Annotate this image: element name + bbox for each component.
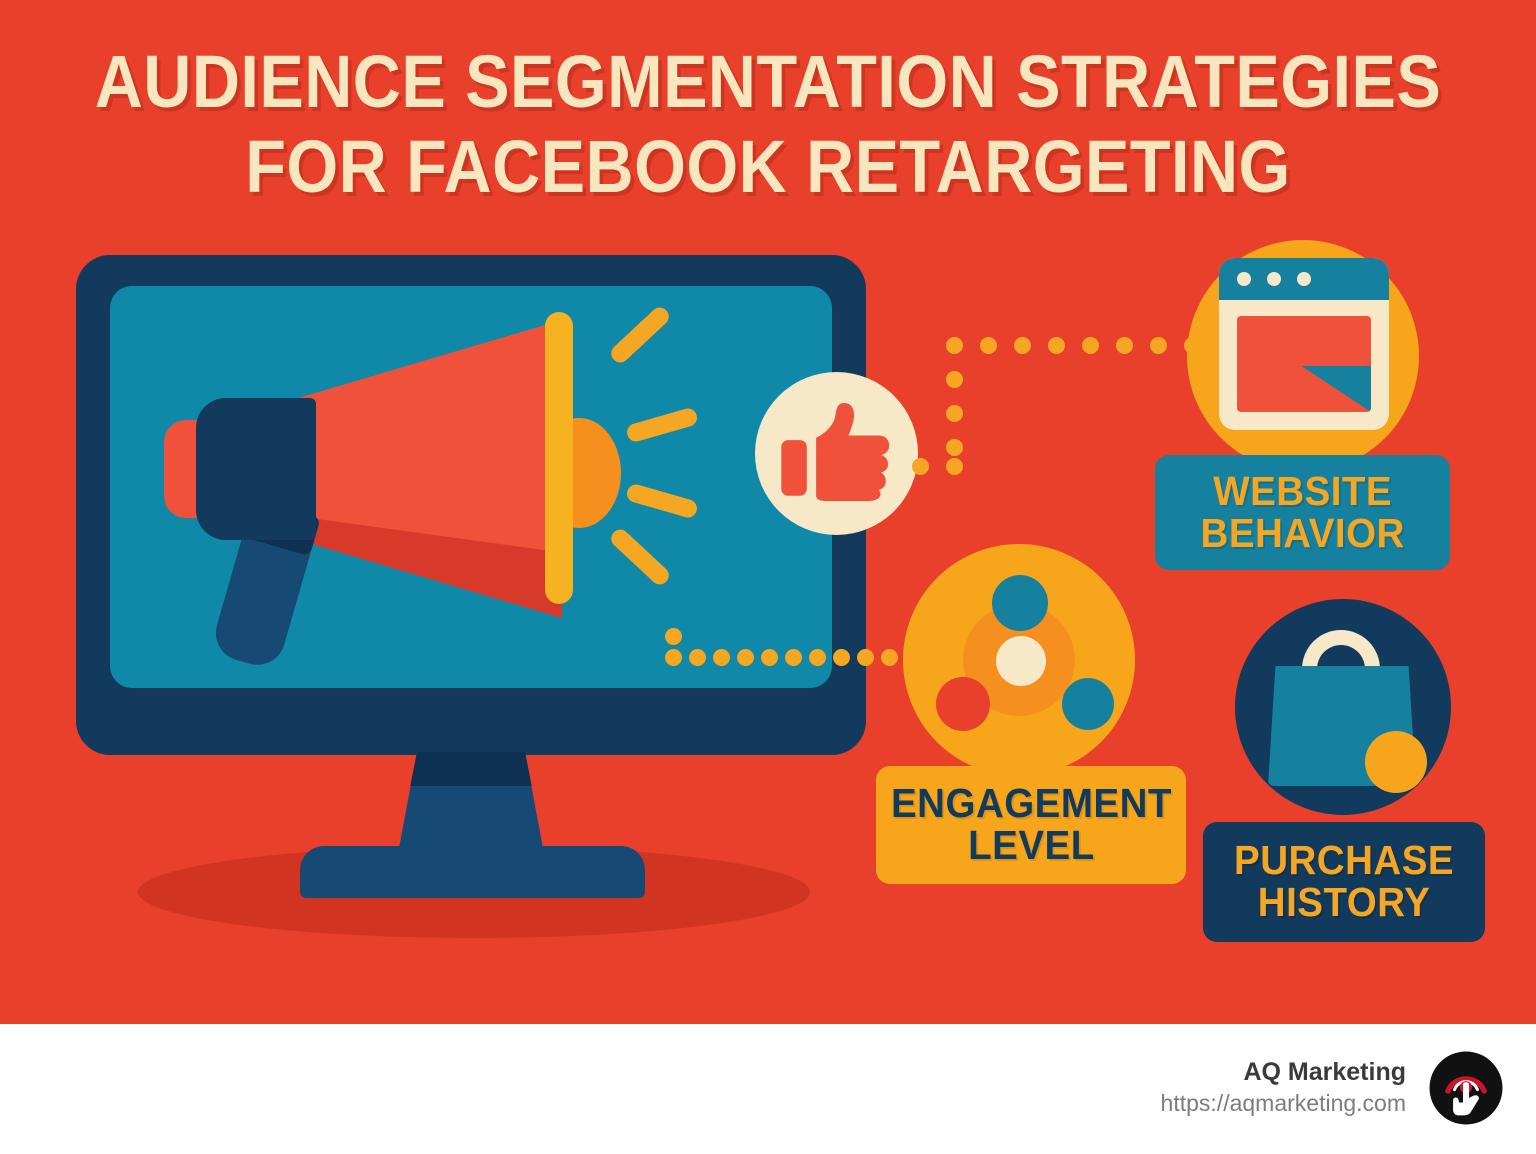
connector-dot [1116, 337, 1133, 354]
connector-dot [1014, 337, 1031, 354]
infographic-page: AUDIENCE SEGMENTATION STRATEGIES FOR FAC… [0, 0, 1536, 1154]
connector-dot [946, 405, 963, 422]
card-label-website-behavior[interactable]: WEBSITE BEHAVIOR [1155, 455, 1450, 570]
connector-dot [713, 649, 730, 666]
website-behavior-line-2: BEHAVIOR [1200, 513, 1404, 555]
infographic-canvas: AUDIENCE SEGMENTATION STRATEGIES FOR FAC… [0, 0, 1536, 1024]
connector-dot [857, 649, 874, 666]
purchase-history-line-2: HISTORY [1234, 882, 1454, 924]
thumbs-up-icon [779, 396, 895, 512]
card-label-purchase-history[interactable]: PURCHASE HISTORY [1203, 822, 1485, 942]
connector-dot [946, 337, 963, 354]
purchase-history-line-1: PURCHASE [1234, 840, 1454, 882]
connector-dot [785, 649, 802, 666]
connector-dot [809, 649, 826, 666]
network-node-center [996, 636, 1046, 686]
connector-dot [881, 649, 898, 666]
browser-content-shape [1237, 316, 1371, 412]
footer-bar: AQ Marketing https://aqmarketing.com [0, 1024, 1536, 1154]
page-title: AUDIENCE SEGMENTATION STRATEGIES FOR FAC… [0, 46, 1536, 202]
browser-dot [1297, 272, 1311, 286]
card-label-engagement-level[interactable]: ENGAGEMENT LEVEL [876, 766, 1186, 884]
connector-dot [665, 649, 682, 666]
megaphone-mouth-bar [545, 312, 573, 604]
footer-text-block: AQ Marketing https://aqmarketing.com [1161, 1057, 1406, 1118]
monitor-neck-highlight [396, 752, 546, 786]
connector-dot [761, 649, 778, 666]
connector-dot [689, 649, 706, 666]
shopping-bag-badge [1365, 731, 1427, 793]
network-node-right [1062, 678, 1114, 730]
browser-dot [1267, 272, 1281, 286]
network-node-left [936, 677, 990, 731]
engagement-level-line-2: LEVEL [891, 825, 1172, 867]
connector-dot [665, 628, 682, 645]
monitor-base [300, 846, 645, 898]
brand-url[interactable]: https://aqmarketing.com [1161, 1089, 1406, 1119]
footer-content: AQ Marketing https://aqmarketing.com [1161, 1050, 1504, 1126]
connector-dot [946, 371, 963, 388]
people-network-icon [992, 575, 1048, 631]
megaphone-body [196, 398, 316, 540]
website-behavior-line-1: WEBSITE [1200, 471, 1404, 513]
engagement-level-line-1: ENGAGEMENT [891, 783, 1172, 825]
connector-dot [1150, 337, 1167, 354]
browser-dot [1237, 272, 1251, 286]
connector-dot [1048, 337, 1065, 354]
brand-name: AQ Marketing [1161, 1057, 1406, 1088]
connector-dot [946, 439, 963, 456]
tap-cursor-logo[interactable] [1428, 1050, 1504, 1126]
connector-dot [980, 337, 997, 354]
title-line-2: FOR FACEBOOK RETARGETING [77, 131, 1459, 202]
browser-content [1237, 316, 1371, 412]
connector-dot [1082, 337, 1099, 354]
connector-dot [912, 458, 929, 475]
connector-dot [833, 649, 850, 666]
connector-dot [737, 649, 754, 666]
title-line-1: AUDIENCE SEGMENTATION STRATEGIES [77, 46, 1459, 117]
browser-window-icon [1219, 258, 1389, 430]
connector-dot [946, 458, 963, 475]
